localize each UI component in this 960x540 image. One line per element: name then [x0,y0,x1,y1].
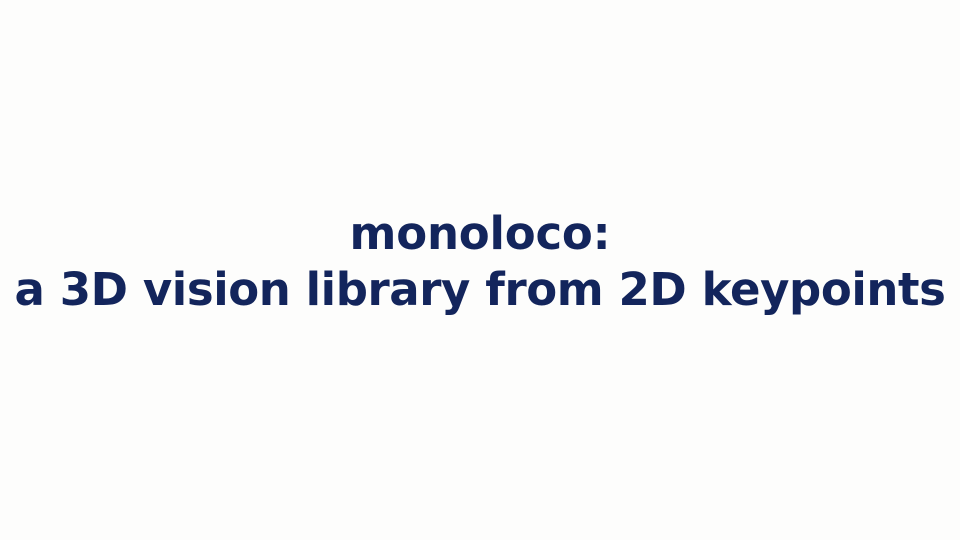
title-line-tagline: a 3D vision library from 2D keypoints [0,262,960,318]
page-title: monoloco: a 3D vision library from 2D ke… [0,206,960,318]
title-line-project-name: monoloco: [0,206,960,262]
title-card: monoloco: a 3D vision library from 2D ke… [0,0,960,540]
